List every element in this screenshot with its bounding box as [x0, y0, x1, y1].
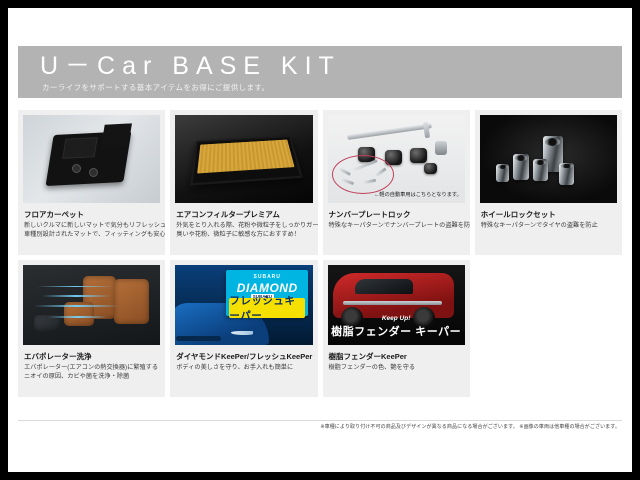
footnote-disclaimer: ※車種により取り付け不可の商品及びデザインが異なる商品になる場合がございます。 … [320, 423, 620, 430]
product-description: 新しいクルマに新しいマットで気分もリフレッシュ 車種別設計されたマットで、フィッ… [24, 222, 159, 239]
fender-headline: 樹脂フェンダー キーパー [328, 323, 465, 339]
product-title: エアコンフィルタープレミアム [176, 209, 311, 220]
product-title: フロアカーペット [24, 209, 159, 220]
product-card-floor-carpet[interactable]: フロアカーペット 新しいクルマに新しいマットで気分もリフレッシュ 車種別設計され… [18, 110, 165, 255]
footer-divider [18, 420, 622, 421]
product-description: 特殊なキーパターンでナンバープレートの盗難を防止 [329, 222, 464, 231]
product-text-number-plate-lock: ナンバープレートロック 特殊なキーパターンでナンバープレートの盗難を防止 [323, 203, 470, 255]
page-title: U－Car BASE KIT [40, 50, 341, 82]
product-image-floor-carpet [23, 115, 160, 203]
product-title: ダイヤモンドKeePer/フレッシュKeePer [176, 351, 311, 362]
grid-empty-cell [475, 260, 622, 397]
product-card-resin-fender-keeper[interactable]: Keep Up! 樹脂フェンダー キーパー 樹脂フェンダーKeePer 樹脂フェ… [323, 260, 470, 397]
product-title: 樹脂フェンダーKeePer [329, 351, 464, 362]
product-title: ホイールロックセット [481, 209, 616, 220]
keeper-banner-icon: SUBARU DIAMOND SUBARU フレッシュキーパー [175, 265, 312, 345]
product-text-air-filter-premium: エアコンフィルタープレミアム 外気をとり入れる際、花粉や微粒子をしっかりガード … [170, 203, 317, 255]
product-description: 外気をとり入れる際、花粉や微粒子をしっかりガード 臭いや花粉、微粒子に敏感な方に… [176, 222, 311, 239]
product-grid: フロアカーペット 新しいクルマに新しいマットで気分もリフレッシュ 車種別設計され… [18, 110, 622, 397]
screenshot-stage: U－Car BASE KIT カーライフをサポートする基本アイテムをお得にご提供… [0, 0, 640, 480]
page-banner: U－Car BASE KIT カーライフをサポートする基本アイテムをお得にご提供… [18, 46, 622, 98]
product-card-wheel-lock-set[interactable]: ホイールロックセット 特殊なキーパターンでタイヤの盗難を防止 [475, 110, 622, 255]
product-text-wheel-lock-set: ホイールロックセット 特殊なキーパターンでタイヤの盗難を防止 [475, 203, 622, 255]
interior-airflow-icon [23, 265, 160, 345]
product-description: ボディの美しさを守り、お手入れも簡単に [176, 364, 311, 373]
product-card-air-filter-premium[interactable]: エアコンフィルタープレミアム 外気をとり入れる際、花粉や微粒子をしっかりガード … [170, 110, 317, 255]
product-image-evaporator-cleaning [23, 265, 160, 345]
product-description: 樹脂フェンダーの色、艶を守る [329, 364, 464, 373]
product-card-evaporator-cleaning[interactable]: エバポレーター洗浄 エバポレーター(エアコンの熱交換器)に繁殖する ニオイの原因… [18, 260, 165, 397]
product-text-diamond-fresh-keeper: ダイヤモンドKeePer/フレッシュKeePer ボディの美しさを守り、お手入れ… [170, 345, 317, 397]
fender-keeper-icon: Keep Up! 樹脂フェンダー キーパー [328, 265, 465, 345]
product-description: 特殊なキーパターンでタイヤの盗難を防止 [481, 222, 616, 231]
keeper-brand-top: SUBARU [226, 274, 308, 280]
air-filter-icon [175, 115, 312, 203]
keeper-yellow-banner: フレッシュキーパー [229, 298, 305, 318]
page-content: U－Car BASE KIT カーライフをサポートする基本アイテムをお得にご提供… [8, 8, 632, 472]
product-text-floor-carpet: フロアカーペット 新しいクルマに新しいマットで気分もリフレッシュ 車種別設計され… [18, 203, 165, 255]
product-card-number-plate-lock[interactable]: ←軽の自動車用はこちらとなります。 ナンバープレートロック 特殊なキーパターンで… [323, 110, 470, 255]
product-title: エバポレーター洗浄 [24, 351, 159, 362]
plate-lock-icon: ←軽の自動車用はこちらとなります。 [328, 115, 465, 203]
product-image-note: ←軽の自動車用はこちらとなります。 [374, 191, 462, 198]
product-image-air-filter-premium [175, 115, 312, 203]
product-image-number-plate-lock: ←軽の自動車用はこちらとなります。 [328, 115, 465, 203]
product-image-resin-fender-keeper: Keep Up! 樹脂フェンダー キーパー [328, 265, 465, 345]
product-image-wheel-lock-set [480, 115, 617, 203]
product-card-diamond-fresh-keeper[interactable]: SUBARU DIAMOND SUBARU フレッシュキーパー ダイヤモンドKe… [170, 260, 317, 397]
product-image-diamond-fresh-keeper: SUBARU DIAMOND SUBARU フレッシュキーパー [175, 265, 312, 345]
product-title: ナンバープレートロック [329, 209, 464, 220]
product-description: エバポレーター(エアコンの熱交換器)に繁殖する ニオイの原因、カビや菌を洗浄・除… [24, 364, 159, 381]
product-text-resin-fender-keeper: 樹脂フェンダーKeePer 樹脂フェンダーの色、艶を守る [323, 345, 470, 397]
wheel-lock-icon [480, 115, 617, 203]
floor-mat-icon [23, 115, 160, 203]
product-text-evaporator-cleaning: エバポレーター洗浄 エバポレーター(エアコンの熱交換器)に繁殖する ニオイの原因… [18, 345, 165, 397]
fender-tagline: Keep Up! [328, 315, 465, 322]
page-subtitle: カーライフをサポートする基本アイテムをお得にご提供します。 [42, 82, 269, 93]
keeper-yellow-text: フレッシュキーパー [229, 293, 305, 323]
